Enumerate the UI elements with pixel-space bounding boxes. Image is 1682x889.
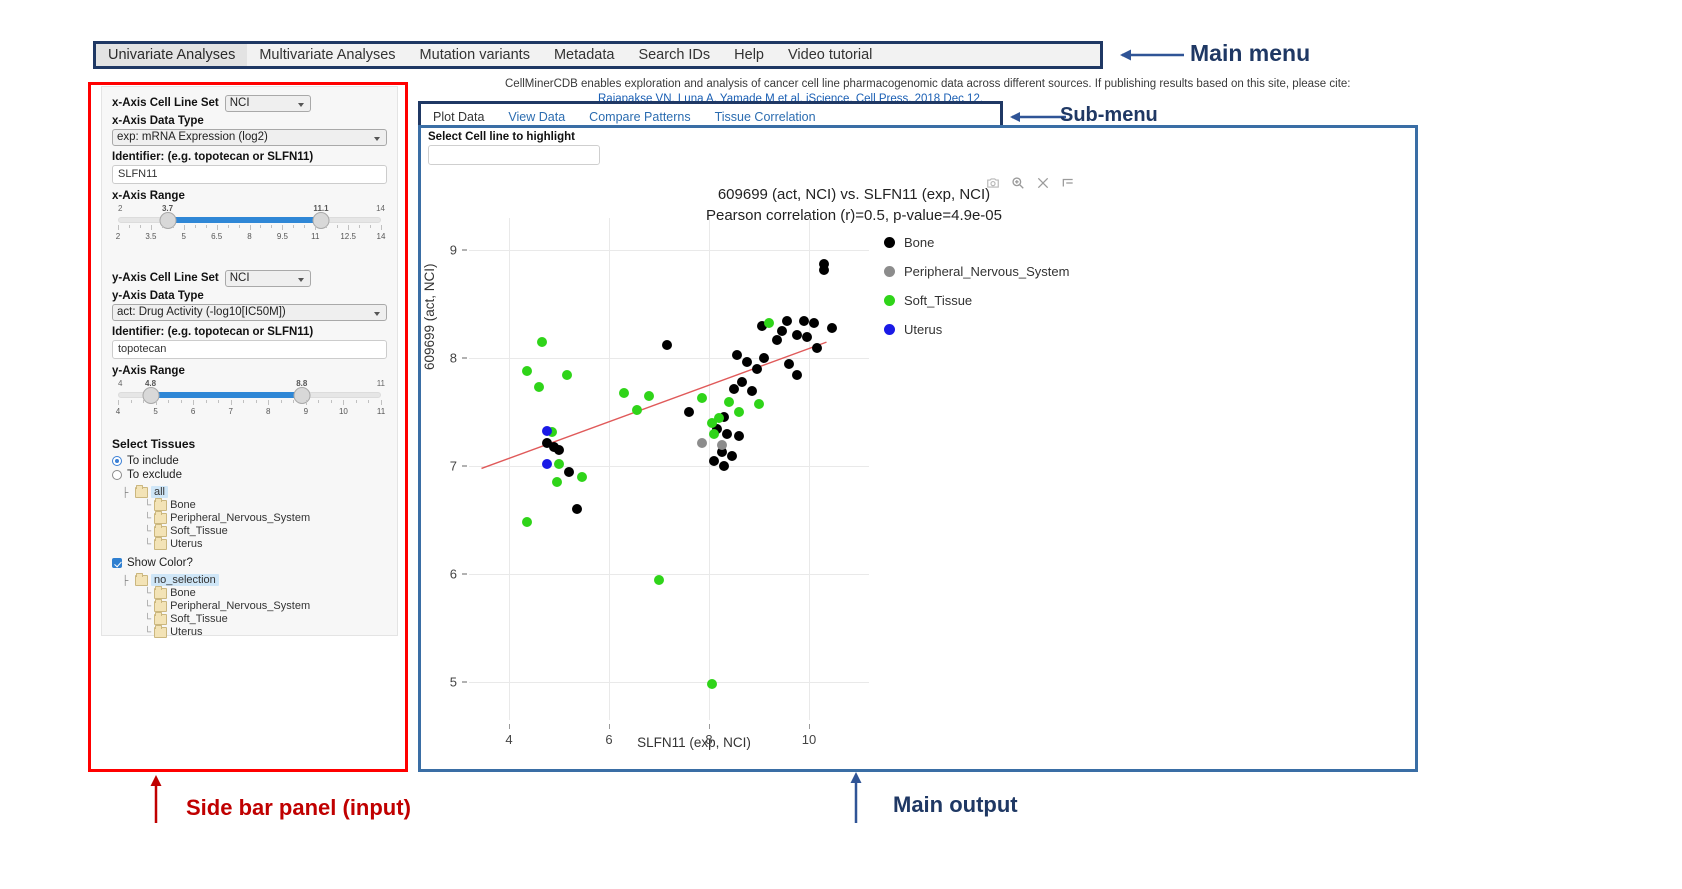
color-tree-node-bone-label: Bone: [170, 587, 196, 599]
scatter-point[interactable]: [707, 418, 717, 428]
slider-minor-tickmark: [281, 400, 282, 403]
scatter-point[interactable]: [522, 517, 532, 527]
menu-item-metadata[interactable]: Metadata: [542, 44, 626, 66]
scatter-point[interactable]: [697, 393, 707, 403]
scatter-point[interactable]: [619, 388, 629, 398]
scatter-point[interactable]: [632, 405, 642, 415]
x-axis-identifier-value: SLFN11: [118, 168, 158, 180]
x-axis-tick-mark: [509, 724, 510, 729]
scatter-point[interactable]: [742, 357, 752, 367]
y-axis-cell-line-set-select[interactable]: NCI: [225, 270, 311, 287]
output-arrow: [845, 770, 867, 825]
y-axis-tick-mark: [462, 574, 467, 575]
slider-minor-tickmark: [173, 225, 174, 228]
slider-minor-tickmark: [184, 225, 185, 228]
scatter-point[interactable]: [747, 386, 757, 396]
slider-minor-tickmark: [118, 400, 119, 403]
show-color-checkbox[interactable]: Show Color?: [112, 557, 387, 569]
tree-node-soft-tissue[interactable]: └ Soft_Tissue: [144, 525, 387, 537]
scatter-point[interactable]: [782, 316, 792, 326]
tree-branch-icon: └: [144, 513, 151, 524]
tree-node-pns-label: Peripheral_Nervous_System: [170, 512, 310, 524]
slider-minor-tickmark: [118, 225, 119, 228]
annotation-sub-menu: Sub-menu: [1060, 104, 1158, 127]
slider-ticklabel: 6: [191, 407, 195, 416]
folder-icon: [154, 539, 167, 550]
tree-node-uterus[interactable]: └ Uterus: [144, 538, 387, 550]
y-axis-tick-label: 8: [427, 351, 457, 366]
y-axis-data-type-select[interactable]: act: Drug Activity (-log10[IC50M]): [112, 304, 387, 321]
scatter-point[interactable]: [799, 316, 809, 326]
highlight-cell-line-input[interactable]: [428, 145, 600, 165]
gridline-vertical: [609, 218, 610, 720]
y-axis-tick-mark: [462, 466, 467, 467]
color-tree-node-soft-tissue[interactable]: └ Soft_Tissue: [144, 613, 387, 625]
slider-minor-tickmark: [256, 400, 257, 403]
scatter-point[interactable]: [732, 350, 742, 360]
y-axis-slider-max-caption: 11: [377, 379, 385, 388]
tree-node-no-selection-label: no_selection: [151, 574, 219, 586]
slider-minor-tickmark: [282, 225, 283, 228]
tree-expand-icon[interactable]: ├: [122, 575, 132, 585]
scatter-point[interactable]: [724, 397, 734, 407]
scatter-point[interactable]: [554, 445, 564, 455]
folder-icon: [154, 500, 167, 511]
tree-node-bone-label: Bone: [170, 499, 196, 511]
slider-minor-tickmark: [228, 225, 229, 228]
y-axis-slider-min-caption: 4: [118, 379, 122, 388]
x-axis-tick-mark: [809, 724, 810, 729]
menu-item-multivariate-analyses[interactable]: Multivariate Analyses: [247, 44, 407, 66]
slider-minor-tickmark: [156, 400, 157, 403]
tree-branch-icon: └: [144, 588, 151, 599]
y-axis-range-slider[interactable]: 4 4.8 8.8 11 4567891011: [112, 379, 387, 423]
scatter-point[interactable]: [802, 332, 812, 342]
x-axis-data-type-label: x-Axis Data Type: [112, 115, 387, 127]
tree-node-all-label: all: [151, 486, 168, 498]
y-axis-tick-mark: [462, 682, 467, 683]
scatter-point[interactable]: [709, 429, 719, 439]
slider-minor-tickmark: [348, 225, 349, 228]
slider-minor-tickmark: [271, 225, 272, 228]
tree-node-no-selection[interactable]: ├ no_selection: [122, 574, 387, 586]
main-menu-bar: Univariate Analyses Multivariate Analyse…: [93, 41, 1103, 69]
legend-swatch-icon: [884, 266, 895, 277]
scatter-point[interactable]: [729, 384, 739, 394]
color-tree-node-uterus-label: Uterus: [170, 626, 202, 638]
tissue-include-tree: ├ all └ Bone └ Peripheral_Nervous_System…: [112, 486, 387, 550]
scatter-point[interactable]: [522, 366, 532, 376]
x-axis-slider-max-caption: 14: [376, 204, 385, 213]
scatter-point[interactable]: [654, 575, 664, 585]
slider-minor-tickmark: [193, 400, 194, 403]
tree-node-all[interactable]: ├ all: [122, 486, 387, 498]
slider-minor-tickmark: [370, 225, 371, 228]
x-axis-tick-mark: [609, 724, 610, 729]
sidebar-panel: x-Axis Cell Line Set NCI x-Axis Data Typ…: [101, 86, 398, 636]
y-axis-tick-label: 7: [427, 459, 457, 474]
folder-icon: [154, 526, 167, 537]
scatter-point[interactable]: [719, 461, 729, 471]
scatter-point[interactable]: [759, 353, 769, 363]
x-axis-tick-label: 8: [705, 732, 712, 747]
slider-minor-tickmark: [239, 225, 240, 228]
slider-minor-tickmark: [315, 225, 316, 228]
annotation-sidebar: Side bar panel (input): [186, 795, 411, 821]
legend-item[interactable]: Bone: [884, 228, 1069, 257]
folder-icon: [154, 588, 167, 599]
tree-branch-icon: └: [144, 539, 151, 550]
highlight-cell-line-label: Select Cell line to highlight: [428, 131, 575, 143]
scatter-point[interactable]: [564, 467, 574, 477]
scatter-point[interactable]: [727, 451, 737, 461]
slider-minor-tickmark: [356, 400, 357, 403]
legend-item[interactable]: Soft_Tissue: [884, 286, 1069, 315]
checkbox-checked-icon: [112, 558, 122, 568]
scatter-point[interactable]: [552, 477, 562, 487]
select-tissues-title: Select Tissues: [112, 437, 387, 451]
plot-legend: BonePeripheral_Nervous_SystemSoft_Tissue…: [884, 228, 1069, 344]
scatter-point[interactable]: [662, 340, 672, 350]
slider-ticklabel: 5: [182, 232, 186, 241]
x-axis-cell-line-set-select[interactable]: NCI: [225, 95, 311, 112]
y-axis-identifier-input[interactable]: topotecan: [112, 340, 387, 359]
slider-ticklabel: 4: [116, 407, 120, 416]
x-axis-data-type-select[interactable]: exp: mRNA Expression (log2): [112, 129, 387, 146]
tissue-mode-exclude-label: To exclude: [127, 469, 182, 481]
tissue-mode-include[interactable]: To include: [112, 455, 387, 467]
x-axis-slider-captions: 2 3.7 11.1 14: [112, 204, 387, 215]
slider-minor-tickmark: [359, 225, 360, 228]
slider-ticklabel: 3.5: [145, 232, 156, 241]
slider-minor-tickmark: [368, 400, 369, 403]
legend-swatch-icon: [884, 237, 895, 248]
slider-minor-tickmark: [326, 225, 327, 228]
slider-ticklabel: 5: [153, 407, 157, 416]
slider-ticklabel: 8: [247, 232, 251, 241]
slider-tickmark: [381, 225, 382, 230]
color-tree-node-pns-label: Peripheral_Nervous_System: [170, 600, 310, 612]
slider-ticklabel: 10: [339, 407, 348, 416]
scatter-point[interactable]: [772, 335, 782, 345]
slider-minor-tickmark: [318, 400, 319, 403]
scatter-point[interactable]: [707, 679, 717, 689]
color-tree-node-bone[interactable]: └ Bone: [144, 587, 387, 599]
y-axis-slider-tickmarks: [118, 400, 381, 406]
scatter-point[interactable]: [827, 323, 837, 333]
menu-item-video-tutorial[interactable]: Video tutorial: [776, 44, 884, 66]
legend-item[interactable]: Uterus: [884, 315, 1069, 344]
scatter-point[interactable]: [709, 456, 719, 466]
x-axis-identifier-label: Identifier: (e.g. topotecan or SLFN11): [112, 151, 387, 163]
scatter-point[interactable]: [542, 426, 552, 436]
scatter-point[interactable]: [537, 337, 547, 347]
slider-minor-tickmark: [181, 400, 182, 403]
y-axis-data-type-value: act: Drug Activity (-log10[IC50M]): [117, 306, 286, 318]
scatter-point[interactable]: [784, 359, 794, 369]
slider-ticklabel: 9.5: [277, 232, 288, 241]
x-axis-tick-label: 10: [802, 732, 816, 747]
menu-item-univariate-analyses[interactable]: Univariate Analyses: [96, 44, 247, 66]
color-tree-node-soft-tissue-label: Soft_Tissue: [170, 613, 228, 625]
slider-minor-tickmark: [151, 225, 152, 228]
slider-minor-tickmark: [243, 400, 244, 403]
tissue-mode-exclude[interactable]: To exclude: [112, 469, 387, 481]
slider-tickmark: [381, 400, 382, 405]
y-axis-cell-line-set-row: y-Axis Cell Line Set NCI: [112, 270, 387, 287]
x-axis-tick-label: 6: [605, 732, 612, 747]
x-axis-data-type-value: exp: mRNA Expression (log2): [117, 131, 268, 143]
slider-minor-tickmark: [231, 400, 232, 403]
legend-label: Bone: [904, 235, 934, 250]
x-axis-cell-line-set-label: x-Axis Cell Line Set: [112, 97, 219, 109]
color-tree-node-uterus[interactable]: └ Uterus: [144, 626, 387, 638]
scatter-point[interactable]: [697, 438, 707, 448]
tree-branch-icon: └: [144, 614, 151, 625]
scatter-point[interactable]: [562, 370, 572, 380]
x-axis-range-slider[interactable]: 2 3.7 11.1 14 23.556.589.51112.514: [112, 204, 387, 248]
slider-minor-tickmark: [260, 225, 261, 228]
scatter-point[interactable]: [577, 472, 587, 482]
color-tree-node-peripheral-nervous-system[interactable]: └ Peripheral_Nervous_System: [144, 600, 387, 612]
slider-ticklabel: 11: [311, 232, 319, 241]
slider-minor-tickmark: [293, 400, 294, 403]
scatter-point[interactable]: [572, 504, 582, 514]
x-axis-cell-line-set-value: NCI: [230, 97, 250, 109]
tree-branch-icon: └: [144, 526, 151, 537]
scatter-point[interactable]: [764, 318, 774, 328]
slider-minor-tickmark: [331, 400, 332, 403]
y-axis-tick-label: 5: [427, 675, 457, 690]
slider-minor-tickmark: [206, 225, 207, 228]
scatter-point[interactable]: [684, 407, 694, 417]
scatter-point[interactable]: [752, 364, 762, 374]
y-axis-data-type-label: y-Axis Data Type: [112, 290, 387, 302]
y-axis-range-label: y-Axis Range: [112, 365, 387, 377]
slider-ticklabel: 9: [304, 407, 308, 416]
folder-icon: [154, 614, 167, 625]
main-menu-arrow: [1118, 44, 1188, 66]
scatter-point[interactable]: [809, 318, 819, 328]
tree-node-bone[interactable]: └ Bone: [144, 499, 387, 511]
scatter-point[interactable]: [542, 459, 552, 469]
x-axis-tick-mark: [709, 724, 710, 729]
scatter-point[interactable]: [734, 407, 744, 417]
x-axis-cell-line-set-row: x-Axis Cell Line Set NCI: [112, 95, 387, 112]
x-axis-slider-min-caption: 2: [118, 204, 122, 213]
legend-swatch-icon: [884, 295, 895, 306]
citation-description: CellMinerCDB enables exploration and ana…: [505, 78, 1515, 90]
tree-branch-icon: └: [144, 627, 151, 638]
legend-swatch-icon: [884, 324, 895, 335]
x-axis-slider-ticklabels: 23.556.589.51112.514: [112, 232, 387, 244]
legend-item[interactable]: Peripheral_Nervous_System: [884, 257, 1069, 286]
slider-minor-tickmark: [140, 225, 141, 228]
radio-include-icon: [112, 456, 122, 466]
legend-label: Uterus: [904, 322, 942, 337]
legend-label: Soft_Tissue: [904, 293, 972, 308]
tree-node-uterus-label: Uterus: [170, 538, 202, 550]
slider-minor-tickmark: [218, 400, 219, 403]
folder-icon: [135, 575, 148, 586]
slider-minor-tickmark: [168, 400, 169, 403]
folder-icon: [154, 627, 167, 638]
slider-ticklabel: 8: [266, 407, 270, 416]
y-axis-slider-fill: [151, 392, 302, 398]
slider-minor-tickmark: [306, 400, 307, 403]
slider-minor-tickmark: [195, 225, 196, 228]
gridline-vertical: [809, 218, 810, 720]
annotation-main-menu: Main menu: [1190, 40, 1310, 67]
tissue-color-tree: ├ no_selection └ Bone └ Peripheral_Nervo…: [112, 574, 387, 638]
slider-minor-tickmark: [268, 400, 269, 403]
y-axis-tick-label: 6: [427, 567, 457, 582]
x-axis-tick-label: 4: [505, 732, 512, 747]
sidebar-arrow: [145, 773, 167, 825]
slider-minor-tickmark: [293, 225, 294, 228]
y-axis-tick-mark: [462, 358, 467, 359]
scatter-point[interactable]: [722, 429, 732, 439]
folder-icon: [135, 487, 148, 498]
main-menu: Univariate Analyses Multivariate Analyse…: [96, 44, 1100, 66]
x-axis-identifier-input[interactable]: SLFN11: [112, 165, 387, 184]
scatter-point[interactable]: [734, 431, 744, 441]
slider-minor-tickmark: [250, 225, 251, 228]
tree-branch-icon: └: [144, 601, 151, 612]
menu-item-search-ids[interactable]: Search IDs: [626, 44, 722, 66]
slider-ticklabel: 14: [377, 232, 386, 241]
legend-label: Peripheral_Nervous_System: [904, 264, 1069, 279]
scatter-point[interactable]: [754, 399, 764, 409]
tree-branch-icon: └: [144, 500, 151, 511]
scatter-point[interactable]: [819, 265, 829, 275]
gridline-vertical: [709, 218, 710, 720]
folder-icon: [154, 513, 167, 524]
slider-minor-tickmark: [304, 225, 305, 228]
scatter-point[interactable]: [644, 391, 654, 401]
slider-minor-tickmark: [129, 225, 130, 228]
x-axis-slider-tickmarks: [118, 225, 381, 231]
menu-item-mutation-variants[interactable]: Mutation variants: [408, 44, 542, 66]
scatter-point[interactable]: [534, 382, 544, 392]
y-axis-identifier-value: topotecan: [118, 343, 166, 355]
x-axis-range-label: x-Axis Range: [112, 190, 387, 202]
scatter-point[interactable]: [792, 330, 802, 340]
scatter-point[interactable]: [717, 440, 727, 450]
slider-minor-tickmark: [217, 225, 218, 228]
slider-ticklabel: 7: [228, 407, 232, 416]
scatter-point[interactable]: [812, 343, 822, 353]
slider-minor-tickmark: [343, 400, 344, 403]
gridline-vertical: [509, 218, 510, 720]
tree-expand-icon[interactable]: ├: [122, 487, 132, 497]
slider-minor-tickmark: [337, 225, 338, 228]
y-axis-tick-mark: [462, 250, 467, 251]
slider-minor-tickmark: [162, 225, 163, 228]
tissue-mode-include-label: To include: [127, 455, 179, 467]
scatter-plot: 609699 (act, NCI) vs. SLFN11 (exp, NCI) …: [424, 170, 1412, 768]
tree-node-soft-tissue-label: Soft_Tissue: [170, 525, 228, 537]
scatter-point[interactable]: [554, 459, 564, 469]
slider-ticklabel: 12.5: [340, 232, 356, 241]
slider-ticklabel: 6.5: [211, 232, 222, 241]
slider-minor-tickmark: [143, 400, 144, 403]
slider-ticklabel: 11: [377, 407, 385, 416]
show-color-label: Show Color?: [127, 557, 193, 569]
y-axis-slider-ticklabels: 4567891011: [112, 407, 387, 419]
slider-ticklabel: 2: [116, 232, 120, 241]
x-axis-slider-fill: [168, 217, 321, 223]
menu-item-help[interactable]: Help: [722, 44, 776, 66]
y-axis-identifier-label: Identifier: (e.g. topotecan or SLFN11): [112, 326, 387, 338]
folder-icon: [154, 601, 167, 612]
annotation-main-output: Main output: [893, 792, 1018, 818]
slider-minor-tickmark: [206, 400, 207, 403]
radio-exclude-icon: [112, 470, 122, 480]
slider-minor-tickmark: [131, 400, 132, 403]
scatter-point[interactable]: [792, 370, 802, 380]
y-axis-cell-line-set-label: y-Axis Cell Line Set: [112, 272, 219, 284]
y-axis-tick-label: 9: [427, 243, 457, 258]
y-axis-cell-line-set-value: NCI: [230, 272, 250, 284]
tree-node-peripheral-nervous-system[interactable]: └ Peripheral_Nervous_System: [144, 512, 387, 524]
